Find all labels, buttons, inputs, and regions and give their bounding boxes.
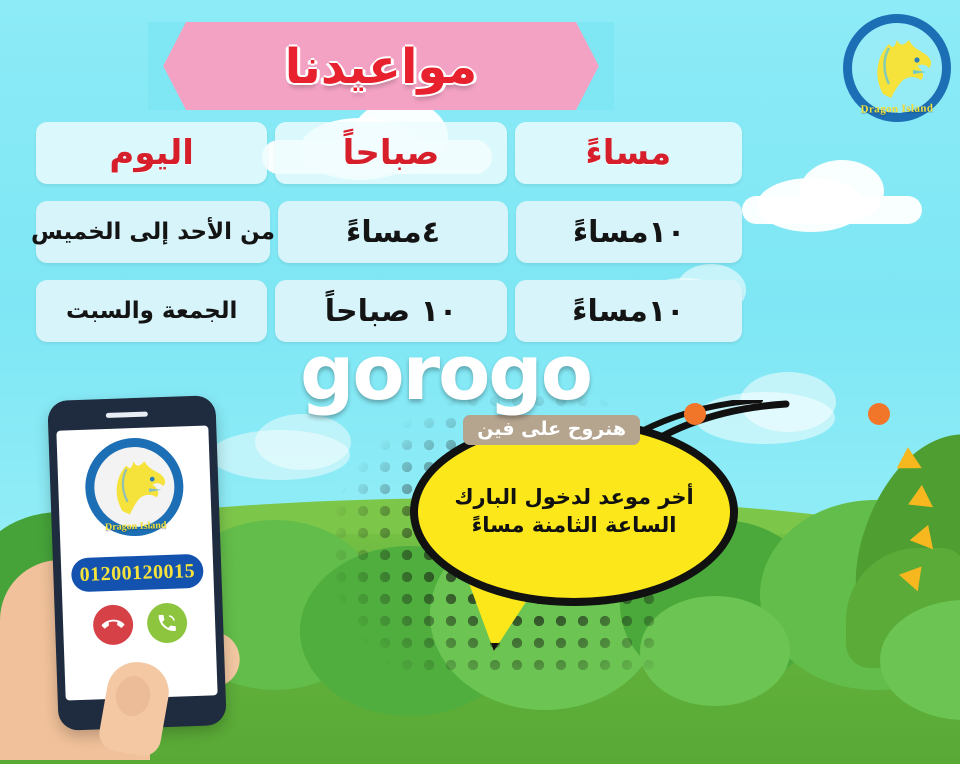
phone-brand-logo: Dragon Island: [84, 436, 185, 537]
speech-bubble: أخر موعد لدخول البارك الساعة الثامنة مسا…: [410, 418, 738, 606]
watermark-tagline: هنروح على فين: [463, 415, 640, 445]
header-cell-evening: مساءً: [515, 122, 742, 184]
watermark: gorogo هنروح على فين: [300, 335, 640, 445]
phone-call-icon[interactable]: [146, 602, 187, 643]
phone-screen: Dragon Island 01200120015: [56, 425, 217, 700]
schedule-header-row: مساءً صباحاً اليوم: [36, 122, 742, 184]
schedule-row-weekday: ١٠مساءً ٤مساءً من الأحد إلى الخميس: [36, 201, 742, 263]
evening-time-weekend: ١٠مساءً: [572, 294, 684, 329]
logo-wordmark: Dragon Island: [843, 102, 951, 116]
notice-line-1: أخر موعد لدخول البارك: [454, 485, 693, 509]
evening-time-weekday: ١٠مساءً: [573, 215, 685, 250]
watermark-wordmark: gorogo: [300, 335, 640, 411]
morning-time-weekday: ٤مساءً: [346, 215, 440, 250]
brand-logo: Dragon Island: [843, 14, 951, 122]
cell-day-weekend: الجمعة والسبت: [36, 280, 267, 342]
phone-hangup-icon[interactable]: [92, 604, 133, 645]
phone-speaker: [106, 412, 148, 418]
notice-line-2: الساعة الثامنة مساءً: [472, 513, 677, 537]
schedule-table: مساءً صباحاً اليوم ١٠مساءً ٤مساءً من الأ…: [36, 122, 742, 359]
header-morning-label: صباحاً: [343, 133, 440, 173]
page-title: مواعيدنا: [148, 27, 614, 107]
header-cell-day: اليوم: [36, 122, 267, 184]
cell-day-weekday: من الأحد إلى الخميس: [36, 201, 270, 263]
speech-bubble-text: أخر موعد لدخول البارك الساعة الثامنة مسا…: [438, 484, 709, 539]
cell-morning-weekday: ٤مساءً: [278, 201, 508, 263]
call-buttons: [92, 602, 187, 645]
morning-time-weekend: ١٠ صباحاً: [325, 294, 457, 329]
header-evening-label: مساءً: [585, 133, 671, 173]
phone-number: 01200120015: [71, 554, 204, 593]
header-cell-morning: صباحاً: [275, 122, 506, 184]
poster-canvas: أخر موعد لدخول البارك الساعة الثامنة مسا…: [0, 0, 960, 764]
title-ribbon: مواعيدنا: [148, 18, 614, 114]
header-day-label: اليوم: [109, 133, 194, 173]
day-label-weekend: الجمعة والسبت: [66, 298, 237, 324]
day-label-weekday: من الأحد إلى الخميس: [31, 219, 275, 245]
cell-evening-weekday: ١٠مساءً: [516, 201, 742, 263]
